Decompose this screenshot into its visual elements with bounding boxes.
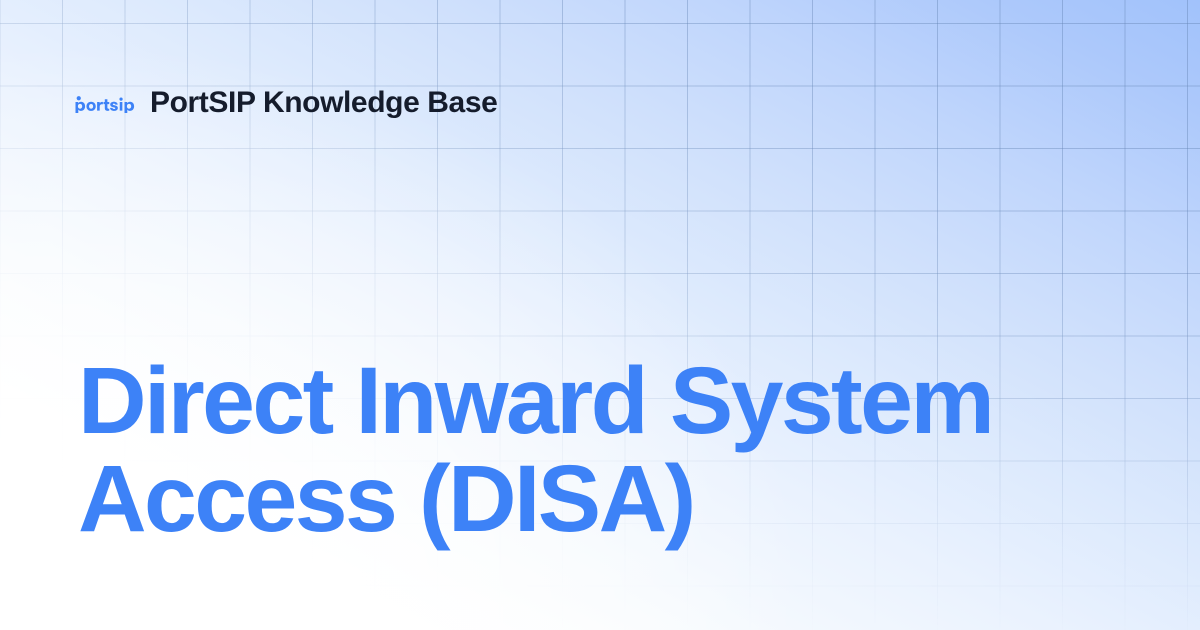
brand-title: PortSIP Knowledge Base (150, 88, 497, 118)
og-banner-card: PortSIP Knowledge Base Direct Inward Sys… (0, 0, 1200, 630)
brand-header: PortSIP Knowledge Base (74, 82, 497, 124)
portsip-logo-icon (74, 93, 136, 113)
card-content: PortSIP Knowledge Base Direct Inward Sys… (0, 0, 1200, 630)
page-title: Direct Inward System Access (DISA) (78, 352, 1088, 548)
